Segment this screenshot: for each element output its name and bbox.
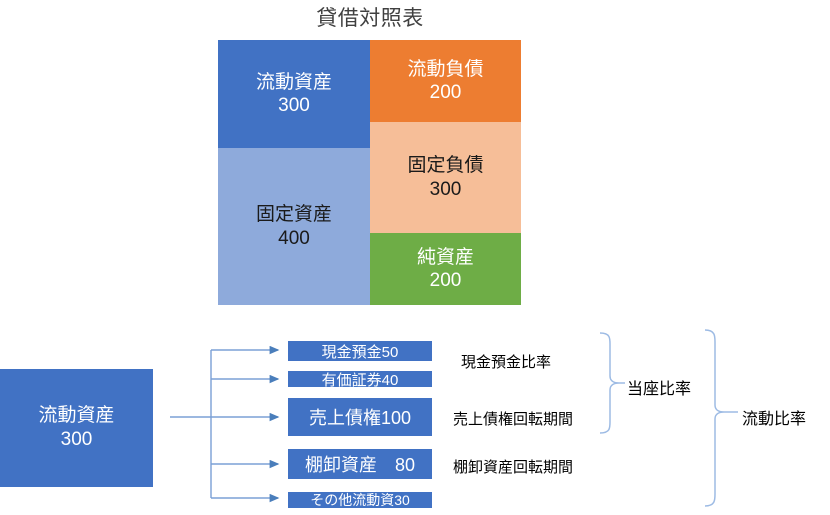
bs-cell-value: 400 [278, 227, 310, 250]
component-bar-inventory: 棚卸資産 80 [288, 449, 432, 479]
page-title: 貸借対照表 [215, 2, 525, 32]
bs-cell-label: 流動資産 [256, 71, 332, 94]
ratio-label-inventory-turnover: 棚卸資産回転期間 [453, 456, 573, 477]
breakdown-source-box: 流動資産 300 [0, 369, 153, 487]
component-bar-text: 有価証券40 [322, 369, 399, 390]
ratio-label-receivables-turnover: 売上債権回転期間 [453, 408, 573, 429]
bs-cell-current-assets: 流動資産 300 [218, 40, 370, 148]
ratio-label-cash: 現金預金比率 [461, 351, 551, 372]
bs-cell-value: 200 [430, 81, 462, 104]
component-bar-other: その他流動資30 [288, 492, 432, 508]
breakdown-source-label: 流動資産 [38, 404, 114, 428]
component-bar-securities: 有価証券40 [288, 371, 432, 387]
bs-cell-fixed-liabilities: 固定負債 300 [370, 122, 521, 233]
component-bar-receivables: 売上債権100 [288, 398, 432, 436]
ratio-label-quick-ratio: 当座比率 [627, 375, 691, 399]
component-bar-text: その他流動資30 [310, 490, 410, 510]
bs-cell-label: 固定負債 [407, 154, 483, 177]
component-bar-text: 現金預金50 [322, 341, 399, 362]
bs-cell-net-assets: 純資産 200 [370, 233, 521, 305]
brace-current-ratio [705, 330, 738, 506]
component-bar-value: 80 [395, 455, 415, 476]
component-bar-text: 売上債権100 [309, 404, 411, 430]
bs-cell-fixed-assets: 固定資産 400 [218, 148, 370, 305]
bs-cell-label: 固定資産 [256, 203, 332, 226]
bs-cell-current-liabilities: 流動負債 200 [370, 40, 521, 122]
breakdown-source-value: 300 [61, 428, 93, 452]
bs-cell-value: 300 [430, 178, 462, 201]
component-bar-label: 棚卸資産 [305, 451, 377, 477]
bs-cell-value: 200 [430, 269, 462, 292]
bs-cell-label: 流動負債 [407, 58, 483, 81]
bs-cell-value: 300 [278, 94, 310, 117]
brace-quick-ratio [600, 333, 625, 433]
bs-cell-label: 純資産 [417, 246, 474, 269]
ratio-label-current-ratio: 流動比率 [742, 405, 806, 429]
component-bar-cash: 現金預金50 [288, 341, 432, 361]
